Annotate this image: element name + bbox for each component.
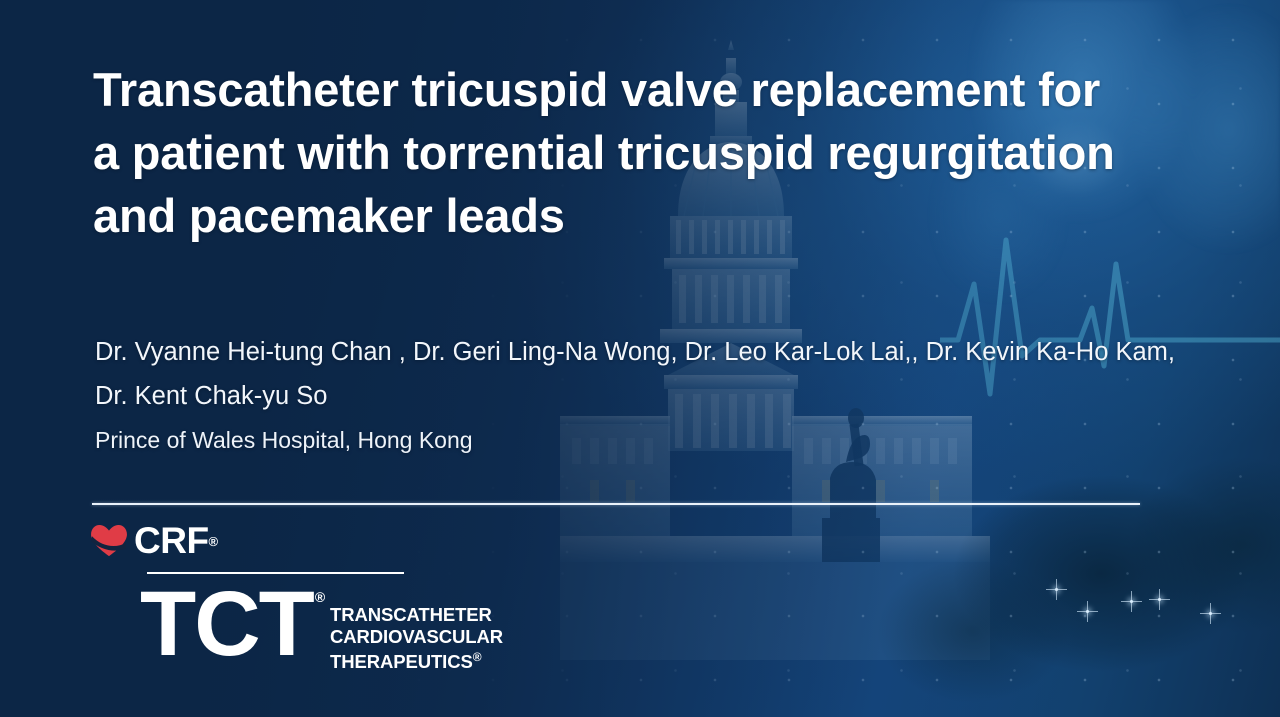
horizontal-divider [92, 503, 1140, 505]
crf-text: CRF [134, 524, 209, 558]
crf-logo: CRF ® [90, 524, 218, 558]
author-list: Dr. Vyanne Hei-tung Chan , Dr. Geri Ling… [95, 330, 1185, 418]
tct-logo-lockup: CRF ® TCT ® TRANSCATHETER CARDIOVASCULAR… [90, 524, 530, 674]
page-title: Transcatheter tricuspid valve replacemen… [93, 58, 1123, 247]
tct-logo: TCT ® [140, 576, 325, 672]
affiliation: Prince of Wales Hospital, Hong Kong [95, 424, 473, 456]
title-slide: Transcatheter tricuspid valve replacemen… [0, 0, 1280, 717]
heart-icon [90, 524, 128, 558]
tagline-registered-mark: ® [473, 650, 482, 664]
crf-registered-mark: ® [209, 535, 219, 548]
tct-tagline: TRANSCATHETER CARDIOVASCULAR THERAPEUTIC… [330, 604, 503, 673]
tct-text: TCT [140, 576, 313, 672]
tct-registered-mark: ® [315, 590, 325, 604]
